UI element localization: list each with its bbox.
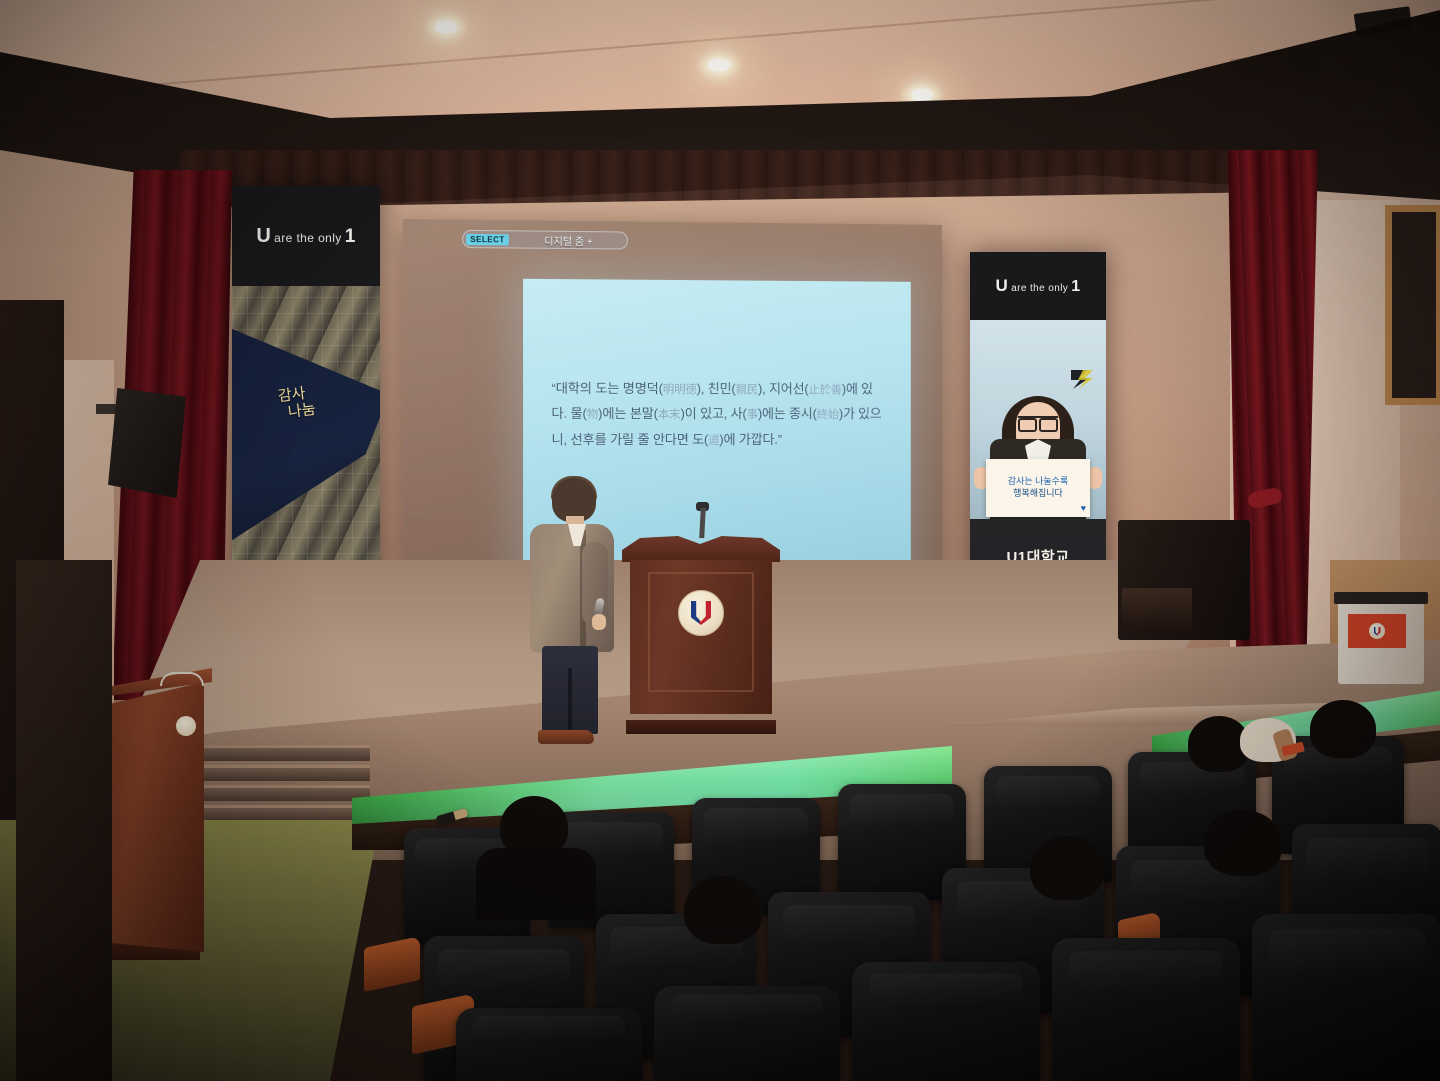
podium-body [630, 560, 772, 714]
slide-korean-run: )에는 본말( [598, 406, 658, 421]
banner-right-tagline-mid: are the only [1011, 283, 1068, 294]
heart-icon: ♥ [1081, 504, 1086, 514]
banner-right-one: 1 [1071, 279, 1080, 295]
projector-osd-overlay[interactable]: SELECT 디지털 줌 + [462, 230, 628, 250]
banner-left-tagline-mid: are the only [274, 231, 342, 245]
auditorium-seat[interactable] [1052, 938, 1240, 1081]
slide-hanja-run: 明明德 [663, 384, 697, 396]
gratitude-sign-line1: 감사는 나눌수록 [1008, 477, 1068, 487]
auditorium-seat[interactable] [654, 986, 840, 1081]
recessed-downlight [697, 52, 741, 78]
university-crest-icon [678, 590, 724, 636]
seat-armrest [364, 936, 420, 992]
presenter [524, 478, 616, 750]
auditorium-photo: U are the only 1 감사 나눔 U1대학교 U are the o… [0, 0, 1440, 1081]
gratitude-sign-line2: 행복해집니다 [1013, 489, 1063, 499]
auditorium-seat[interactable] [852, 962, 1040, 1081]
crest-u-shape [691, 601, 711, 625]
podium-top [622, 536, 780, 562]
banner-right-tagline: U are the only 1 [995, 277, 1080, 295]
slide-hanja-run: 道 [708, 435, 719, 447]
gratitude-sign: 감사는 나눌수록 행복해집니다 ♥ [986, 459, 1090, 517]
lectern-cable [160, 672, 204, 686]
slide-korean-run: ), 지어선( [758, 381, 808, 396]
podium-base [626, 720, 776, 734]
slide-hanja-run: 止於善 [808, 384, 841, 396]
wall-window [1385, 205, 1440, 405]
auditorium-seat[interactable] [456, 1008, 642, 1081]
glasses-icon [1018, 416, 1058, 427]
audience-member-head [684, 876, 762, 944]
slide-hanja-run: 本末 [658, 409, 681, 421]
audience-member-shoulder [476, 848, 596, 920]
side-lectern [1338, 600, 1424, 684]
banner-left-handwriting: 감사 나눔 [277, 384, 317, 423]
banner-left-u: U [256, 226, 271, 246]
osd-menu-label: 디지털 줌 + [513, 232, 624, 248]
side-lectern-top [1334, 592, 1428, 604]
side-lectern-plate [1348, 614, 1406, 648]
banner-left-one: 1 [345, 227, 356, 246]
presenter-shoe [538, 730, 594, 744]
slide-hanja-run: 物 [587, 409, 598, 421]
presenter-trousers [542, 646, 598, 734]
banner-right-header: U are the only 1 [970, 252, 1106, 320]
audience-member-head [1310, 700, 1376, 758]
recessed-downlight [424, 14, 468, 40]
slide-korean-run: )에는 종시( [758, 406, 817, 421]
presenter-hand [592, 614, 606, 630]
audience-member-head [1204, 810, 1282, 876]
brand-swoosh-icon [1069, 368, 1095, 390]
banner-left-tagline: U are the only 1 [256, 226, 355, 246]
slide-hanja-run: 終始 [817, 410, 839, 422]
slide-body-text: “대학의 도는 명명덕(明明德), 친민(親民), 지어선(止於善)에 있다. … [551, 376, 885, 453]
speaker-bracket [96, 404, 118, 414]
piano-bench [1122, 588, 1192, 630]
university-crest-icon-lectern [176, 716, 196, 736]
slide-korean-run: ), 친민( [697, 381, 736, 396]
banner-right-u: U [995, 277, 1008, 294]
auditorium-seat[interactable] [1252, 914, 1440, 1081]
wooden-podium [622, 536, 780, 726]
banner-right: U are the only 1 감사는 나눌수록 행복해집니다 ♥ U1대학 [970, 252, 1106, 594]
slide-hanja-run: 事 [747, 409, 758, 421]
crest-flame [698, 603, 705, 620]
banner-left-handwriting-line2: 나눔 [287, 401, 317, 421]
university-crest-icon-small [1369, 623, 1385, 639]
foreground-pillar [16, 560, 112, 1081]
banner-right-portrait-bg: 감사는 나눌수록 행복해집니다 ♥ [970, 320, 1106, 518]
banner-left-header: U are the only 1 [232, 186, 380, 286]
slide-korean-run: “대학의 도는 명명덕( [551, 381, 662, 396]
slide-hanja-run: 親民 [736, 384, 758, 396]
audience-member-head [1030, 836, 1104, 900]
wall-loudspeaker [108, 388, 186, 498]
slide-korean-run: )이 있고, 사( [680, 406, 746, 421]
osd-select-badge[interactable]: SELECT [466, 233, 509, 245]
slide-korean-run: )에 가깝다.” [719, 432, 781, 447]
